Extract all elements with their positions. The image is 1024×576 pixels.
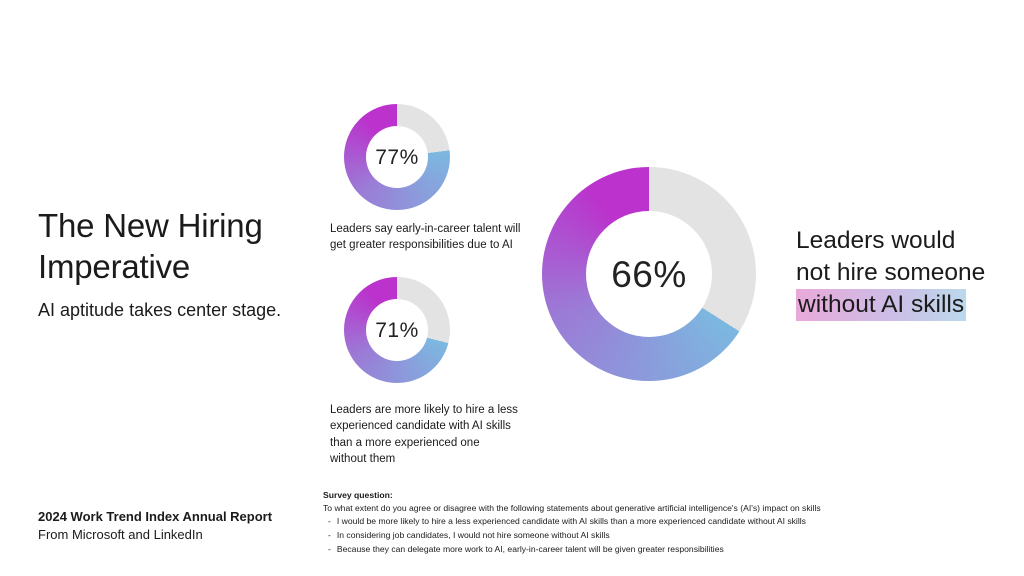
donut-caption-77-line1: Leaders say early-in-career talent will	[330, 223, 520, 235]
donut-caption-77: Leaders say early-in-career talent will …	[330, 221, 530, 254]
survey-item: - I would be more likely to hire a less …	[323, 515, 1013, 529]
page-title: The New Hiring Imperative	[38, 206, 308, 287]
donut-caption-71-line3: than a more experienced one	[330, 437, 480, 449]
callout-block: Leaders would not hire someone without A…	[796, 225, 1006, 321]
page-title-line2: Imperative	[38, 248, 190, 285]
donut-chart-71: 71%	[344, 277, 450, 383]
survey-item-text: Because they can delegate more work to A…	[337, 543, 724, 557]
survey-dash: -	[328, 515, 331, 529]
donut-hole-77: 77%	[366, 126, 428, 188]
report-title: 2024 Work Trend Index Annual Report	[38, 508, 272, 526]
survey-footnote: Survey question: To what extent do you a…	[323, 489, 1013, 557]
donut-value-71: 71%	[375, 320, 419, 341]
survey-dash: -	[328, 543, 331, 557]
donut-hole-71: 71%	[366, 299, 428, 361]
survey-item-text: I would be more likely to hire a less ex…	[337, 515, 806, 529]
survey-item-text: In considering job candidates, I would n…	[337, 529, 610, 543]
donut-caption-71-line2: experienced candidate with AI skills	[330, 420, 511, 432]
report-source: From Microsoft and LinkedIn	[38, 526, 272, 544]
donut-ring-66: 66%	[542, 167, 756, 381]
donut-hole-66: 66%	[586, 211, 712, 337]
survey-heading: Survey question:	[323, 489, 1013, 502]
survey-dash: -	[328, 529, 331, 543]
survey-item: - In considering job candidates, I would…	[323, 529, 1013, 543]
donut-ring-77: 77%	[344, 104, 450, 210]
donut-value-77: 77%	[375, 147, 419, 168]
page-title-line1: The New Hiring	[38, 207, 263, 244]
donut-value-66: 66%	[611, 256, 687, 293]
donut-chart-77: 77%	[344, 104, 450, 210]
headline-block: The New Hiring Imperative AI aptitude ta…	[38, 206, 308, 323]
donut-ring-71: 71%	[344, 277, 450, 383]
report-footer: 2024 Work Trend Index Annual Report From…	[38, 508, 272, 543]
donut-caption-71: Leaders are more likely to hire a less e…	[330, 402, 530, 467]
survey-intro: To what extent do you agree or disagree …	[323, 502, 1013, 515]
survey-item: - Because they can delegate more work to…	[323, 543, 1013, 557]
donut-caption-77-line2: get greater responsibilities due to AI	[330, 239, 513, 251]
callout-line-3-highlighted: without AI skills	[796, 289, 966, 321]
donut-caption-71-line4: without them	[330, 453, 395, 465]
page-subtitle: AI aptitude takes center stage.	[38, 299, 308, 322]
callout-line-2: not hire someone	[796, 257, 985, 289]
donut-chart-66: 66%	[542, 167, 756, 381]
callout-line-1: Leaders would	[796, 225, 955, 257]
donut-caption-71-line1: Leaders are more likely to hire a less	[330, 404, 518, 416]
